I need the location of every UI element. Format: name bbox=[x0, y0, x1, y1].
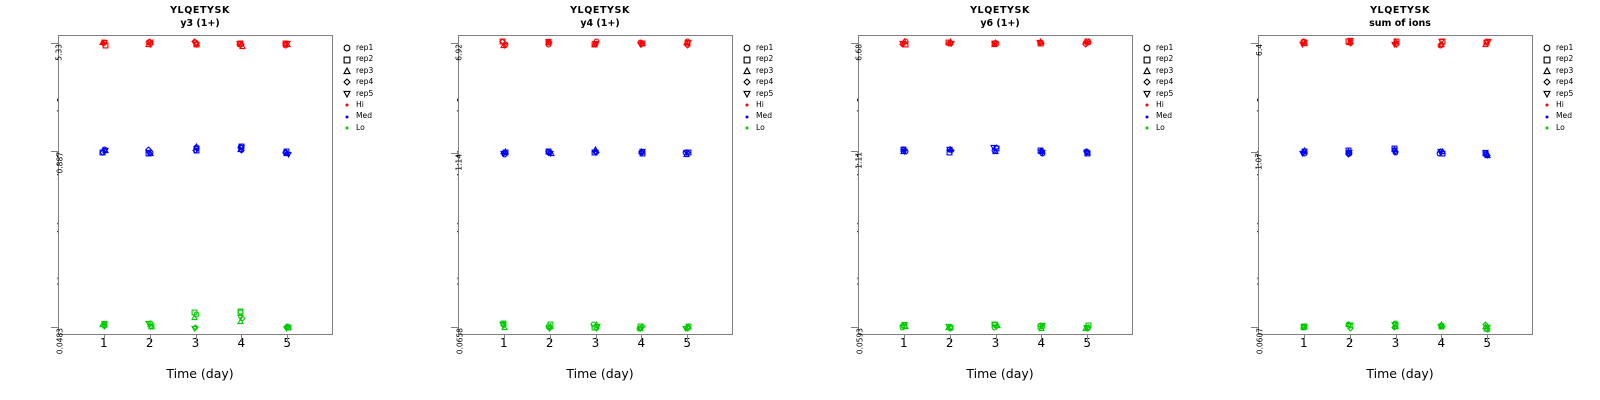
legend-item-lo[interactable]: Lo bbox=[1141, 122, 1173, 133]
legend-item-hi[interactable]: Hi bbox=[341, 99, 373, 110]
legend-item-rep1[interactable]: rep1 bbox=[1141, 42, 1173, 53]
legend-item-med[interactable]: Med bbox=[341, 110, 373, 121]
legend-label: rep3 bbox=[1556, 65, 1573, 76]
triangle-down-marker bbox=[1541, 88, 1553, 99]
legend-label: rep4 bbox=[1156, 76, 1173, 87]
legend-label: Med bbox=[1556, 110, 1572, 121]
circle-marker bbox=[341, 42, 353, 53]
legend-label: Lo bbox=[1156, 122, 1165, 133]
legend-item-rep3[interactable]: rep3 bbox=[341, 65, 373, 76]
legend-item-rep4[interactable]: rep4 bbox=[741, 76, 773, 87]
legend-label: rep4 bbox=[756, 76, 773, 87]
legend-label: rep2 bbox=[356, 53, 373, 64]
diamond-marker bbox=[1541, 76, 1553, 87]
diamond-marker bbox=[741, 76, 753, 87]
x-tick-mark bbox=[950, 335, 951, 342]
dot-marker bbox=[741, 99, 753, 110]
legend-label: Med bbox=[1156, 110, 1172, 121]
x-tick-mark bbox=[1041, 335, 1042, 342]
x-tick-mark bbox=[1350, 335, 1351, 342]
dot-marker bbox=[341, 122, 353, 133]
y-tick-mark bbox=[451, 153, 458, 154]
legend-item-rep2[interactable]: rep2 bbox=[1141, 53, 1173, 64]
legend-label: Lo bbox=[1556, 122, 1565, 133]
x-axis-label: Time (day) bbox=[800, 366, 1200, 381]
panel-3: YLQETYSKy6 (1+)Measured (area ratio) [lo… bbox=[800, 0, 1200, 400]
legend: rep1rep2rep3rep4rep5HiMedLo bbox=[341, 42, 373, 133]
square-marker bbox=[741, 54, 753, 65]
legend-label: rep2 bbox=[756, 53, 773, 64]
legend-item-rep2[interactable]: rep2 bbox=[341, 53, 373, 64]
x-tick-mark bbox=[996, 335, 997, 342]
legend-label: Hi bbox=[1156, 99, 1164, 110]
circle-marker bbox=[1141, 42, 1153, 53]
y-tick-mark bbox=[1251, 43, 1258, 44]
plot-area bbox=[458, 35, 733, 335]
dot-marker bbox=[341, 99, 353, 110]
x-tick-mark bbox=[641, 335, 642, 342]
x-tick-mark bbox=[687, 335, 688, 342]
x-tick-mark bbox=[196, 335, 197, 342]
legend-item-med[interactable]: Med bbox=[1141, 110, 1173, 121]
x-tick-mark bbox=[1087, 335, 1088, 342]
y-tick-mark bbox=[51, 327, 58, 328]
x-tick-mark bbox=[287, 335, 288, 342]
dot-marker bbox=[1141, 122, 1153, 133]
square-marker bbox=[341, 54, 353, 65]
x-tick-mark bbox=[504, 335, 505, 342]
triangle-up-marker bbox=[341, 65, 353, 76]
legend-item-rep3[interactable]: rep3 bbox=[1141, 65, 1173, 76]
dot-marker bbox=[1541, 111, 1553, 122]
legend-label: rep4 bbox=[1556, 76, 1573, 87]
panel-1: YLQETYSKy3 (1+)Measured (area ratio) [lo… bbox=[0, 0, 400, 400]
dot-marker bbox=[741, 111, 753, 122]
x-tick-mark bbox=[1441, 335, 1442, 342]
legend-label: rep5 bbox=[1156, 88, 1173, 99]
x-tick-mark bbox=[1304, 335, 1305, 342]
legend: rep1rep2rep3rep4rep5HiMedLo bbox=[741, 42, 773, 133]
legend-item-rep3[interactable]: rep3 bbox=[741, 65, 773, 76]
legend-item-hi[interactable]: Hi bbox=[1541, 99, 1573, 110]
legend-label: rep2 bbox=[1156, 53, 1173, 64]
triangle-up-marker bbox=[1541, 65, 1553, 76]
legend-label: rep3 bbox=[756, 65, 773, 76]
diamond-marker bbox=[1141, 76, 1153, 87]
x-axis-label: Time (day) bbox=[400, 366, 800, 381]
dot-marker bbox=[1541, 122, 1553, 133]
legend-item-rep4[interactable]: rep4 bbox=[1141, 76, 1173, 87]
legend-item-rep5[interactable]: rep5 bbox=[1141, 88, 1173, 99]
scatter-plot-figure: YLQETYSKy3 (1+)Measured (area ratio) [lo… bbox=[0, 0, 1600, 400]
legend-item-rep2[interactable]: rep2 bbox=[1541, 53, 1573, 64]
legend-item-lo[interactable]: Lo bbox=[741, 122, 773, 133]
x-tick-mark bbox=[1396, 335, 1397, 342]
legend-item-lo[interactable]: Lo bbox=[341, 122, 373, 133]
x-tick-mark bbox=[550, 335, 551, 342]
legend-item-hi[interactable]: Hi bbox=[741, 99, 773, 110]
panel-4: YLQETYSKsum of ionsMeasured (area ratio)… bbox=[1200, 0, 1600, 400]
legend: rep1rep2rep3rep4rep5HiMedLo bbox=[1141, 42, 1173, 133]
triangle-down-marker bbox=[1141, 88, 1153, 99]
y-tick-mark bbox=[1251, 327, 1258, 328]
legend-item-hi[interactable]: Hi bbox=[1141, 99, 1173, 110]
circle-marker bbox=[1541, 42, 1553, 53]
dot-marker bbox=[741, 122, 753, 133]
legend-item-med[interactable]: Med bbox=[1541, 110, 1573, 121]
plot-area bbox=[858, 35, 1133, 335]
triangle-down-marker bbox=[341, 88, 353, 99]
legend: rep1rep2rep3rep4rep5HiMedLo bbox=[1541, 42, 1573, 133]
legend-label: rep5 bbox=[756, 88, 773, 99]
y-tick-mark bbox=[451, 327, 458, 328]
diamond-marker bbox=[341, 76, 353, 87]
legend-label: rep1 bbox=[1156, 42, 1173, 53]
x-tick-mark bbox=[1487, 335, 1488, 342]
x-axis-label: Time (day) bbox=[0, 366, 400, 381]
legend-label: rep1 bbox=[356, 42, 373, 53]
square-marker bbox=[1541, 54, 1553, 65]
legend-label: rep4 bbox=[356, 76, 373, 87]
legend-label: Lo bbox=[756, 122, 765, 133]
legend-label: rep5 bbox=[356, 88, 373, 99]
triangle-up-marker bbox=[1141, 65, 1153, 76]
legend-item-rep3[interactable]: rep3 bbox=[1541, 65, 1573, 76]
dot-marker bbox=[1541, 99, 1553, 110]
legend-item-med[interactable]: Med bbox=[741, 110, 773, 121]
x-axis-label: Time (day) bbox=[1200, 366, 1600, 381]
circle-marker bbox=[741, 42, 753, 53]
dot-marker bbox=[1141, 111, 1153, 122]
square-marker bbox=[1141, 54, 1153, 65]
x-tick-mark bbox=[596, 335, 597, 342]
legend-item-rep2[interactable]: rep2 bbox=[741, 53, 773, 64]
y-tick-mark bbox=[851, 43, 858, 44]
legend-item-rep4[interactable]: rep4 bbox=[341, 76, 373, 87]
legend-item-rep5[interactable]: rep5 bbox=[741, 88, 773, 99]
legend-item-rep1[interactable]: rep1 bbox=[741, 42, 773, 53]
legend-label: rep5 bbox=[1556, 88, 1573, 99]
panel-2: YLQETYSKy4 (1+)Measured (area ratio) [lo… bbox=[400, 0, 800, 400]
legend-label: rep1 bbox=[1556, 42, 1573, 53]
legend-label: Hi bbox=[756, 99, 764, 110]
y-tick-mark bbox=[1251, 152, 1258, 153]
plot-area bbox=[1258, 35, 1533, 335]
x-tick-mark bbox=[241, 335, 242, 342]
legend-item-lo[interactable]: Lo bbox=[1541, 122, 1573, 133]
legend-label: Med bbox=[756, 110, 772, 121]
x-tick-mark bbox=[150, 335, 151, 342]
legend-label: Lo bbox=[356, 122, 365, 133]
x-tick-mark bbox=[104, 335, 105, 342]
y-tick-mark bbox=[51, 43, 58, 44]
legend-label: rep1 bbox=[756, 42, 773, 53]
legend-item-rep4[interactable]: rep4 bbox=[1541, 76, 1573, 87]
legend-label: Med bbox=[356, 110, 372, 121]
y-tick-mark bbox=[51, 151, 58, 152]
x-tick-mark bbox=[904, 335, 905, 342]
y-tick-mark bbox=[451, 43, 458, 44]
dot-marker bbox=[341, 111, 353, 122]
legend-item-rep5[interactable]: rep5 bbox=[341, 88, 373, 99]
legend-label: Hi bbox=[356, 99, 364, 110]
legend-item-rep5[interactable]: rep5 bbox=[1541, 88, 1573, 99]
legend-label: Hi bbox=[1556, 99, 1564, 110]
legend-label: rep3 bbox=[356, 65, 373, 76]
dot-marker bbox=[1141, 99, 1153, 110]
triangle-up-marker bbox=[741, 65, 753, 76]
legend-label: rep2 bbox=[1556, 53, 1573, 64]
legend-label: rep3 bbox=[1156, 65, 1173, 76]
legend-item-rep1[interactable]: rep1 bbox=[341, 42, 373, 53]
y-tick-mark bbox=[851, 327, 858, 328]
y-tick-mark bbox=[851, 151, 858, 152]
plot-area bbox=[58, 35, 333, 335]
legend-item-rep1[interactable]: rep1 bbox=[1541, 42, 1573, 53]
triangle-down-marker bbox=[741, 88, 753, 99]
